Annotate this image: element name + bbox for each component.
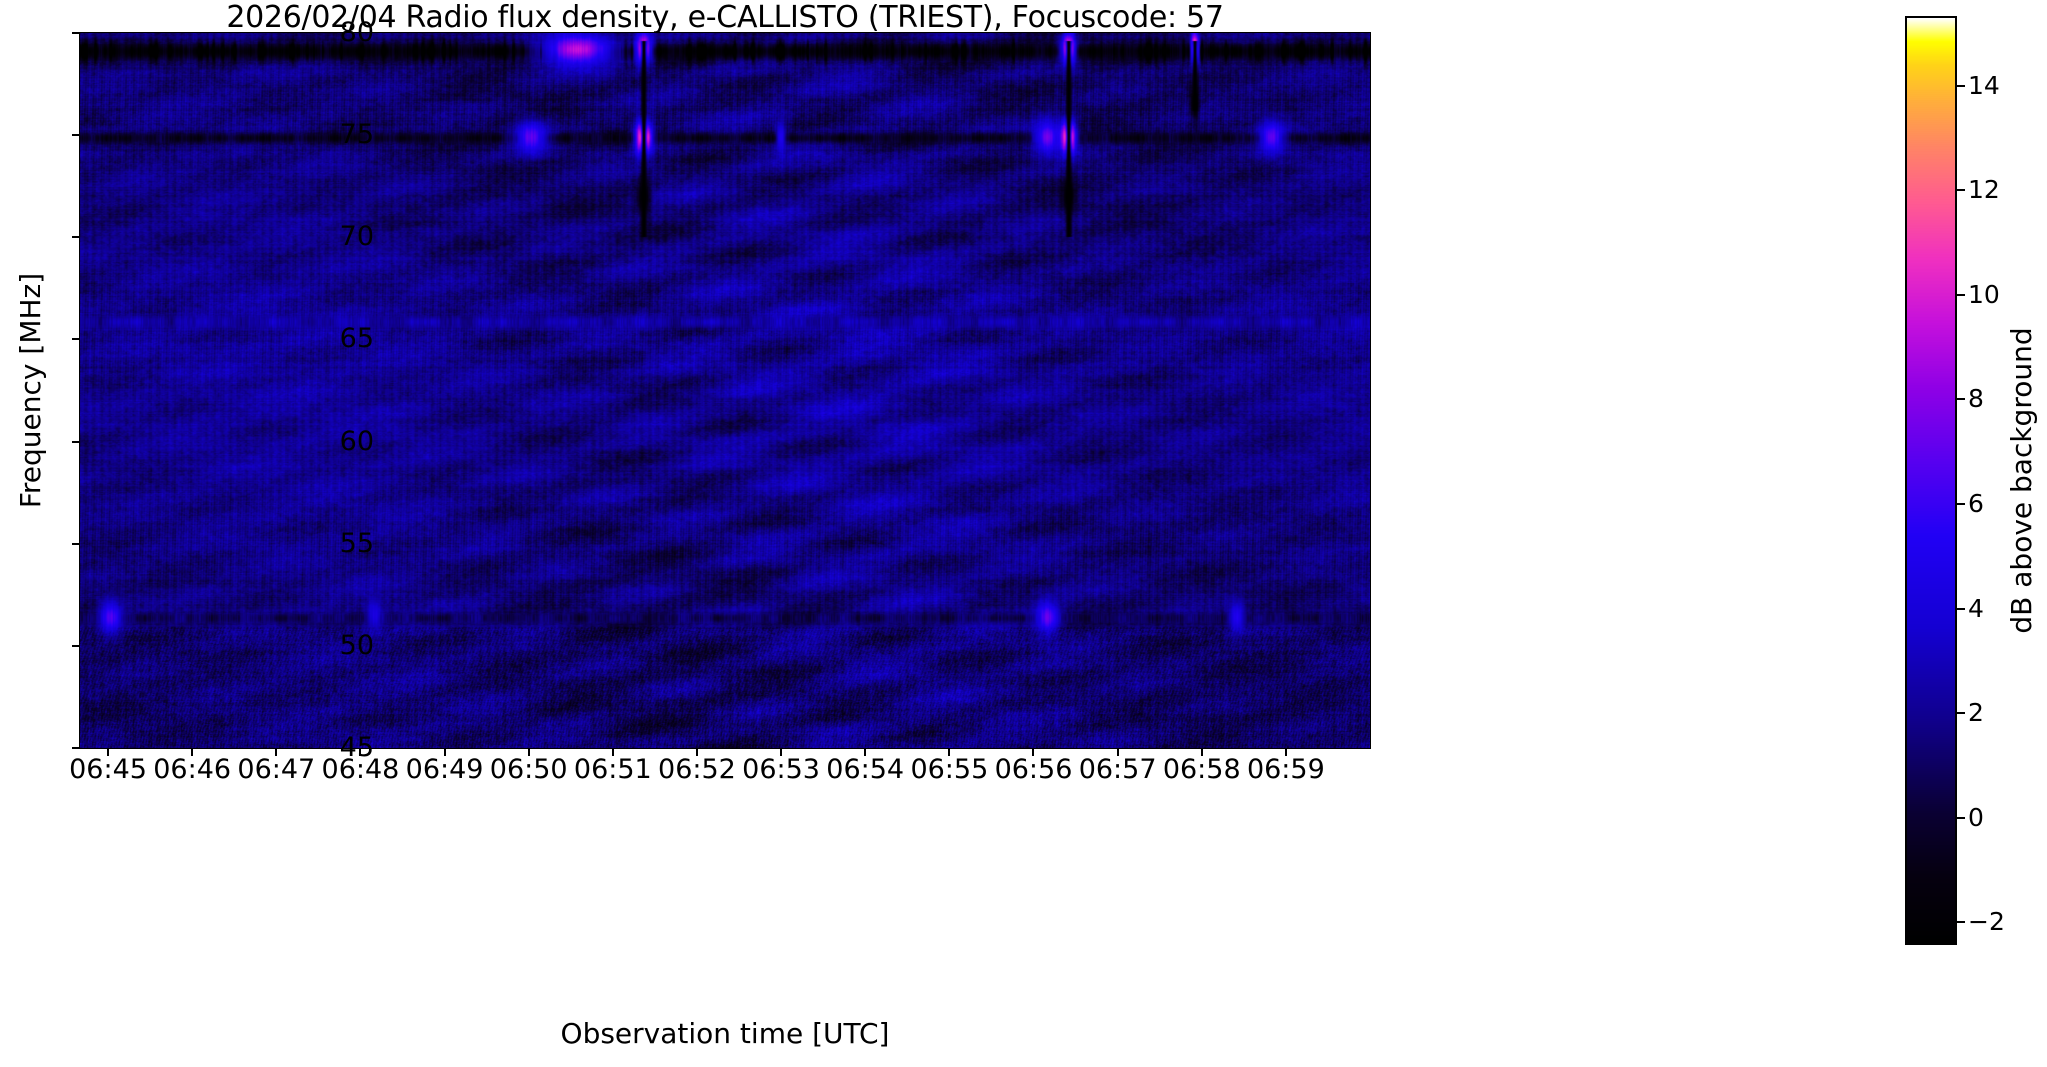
y-tick-mark <box>72 747 80 749</box>
x-tick-label: 06:55 <box>910 756 988 783</box>
y-tick-mark <box>72 645 80 647</box>
x-tick-label: 06:46 <box>153 756 231 783</box>
colorbar-tick-mark <box>1956 294 1965 296</box>
y-tick-label: 70 <box>340 223 374 250</box>
x-tick-mark <box>696 748 698 756</box>
x-tick-mark <box>444 748 446 756</box>
y-tick-label: 55 <box>340 530 374 557</box>
colorbar-tick-label: 10 <box>1968 282 2000 307</box>
colorbar-tick-label: 6 <box>1968 491 1984 516</box>
x-tick-mark <box>275 748 277 756</box>
x-tick-mark <box>1032 748 1034 756</box>
spectrogram-figure: 2026/02/04 Radio flux density, e-CALLIST… <box>0 0 2047 1067</box>
x-tick-label: 06:59 <box>1247 756 1325 783</box>
colorbar-tick-label: 4 <box>1968 596 1984 621</box>
y-tick-mark <box>72 338 80 340</box>
colorbar-tick-mark <box>1956 189 1965 191</box>
x-tick-label: 06:45 <box>69 756 147 783</box>
y-tick-mark <box>72 543 80 545</box>
colorbar-tick-label: 12 <box>1968 177 2000 202</box>
y-axis-label: Frequency [MHz] <box>14 33 48 748</box>
x-tick-label: 06:57 <box>1079 756 1157 783</box>
colorbar-tick-label: 14 <box>1968 73 2000 98</box>
x-tick-label: 06:53 <box>742 756 820 783</box>
colorbar-tick-mark <box>1956 85 1965 87</box>
x-tick-label: 06:58 <box>1163 756 1241 783</box>
x-tick-label: 06:49 <box>406 756 484 783</box>
spectrogram-plot-area <box>80 33 1370 748</box>
y-tick-label: 50 <box>340 632 374 659</box>
colorbar-tick-label: 8 <box>1968 386 1984 411</box>
colorbar-tick-label: 2 <box>1968 700 1984 725</box>
colorbar-tick-label: −2 <box>1968 909 2005 934</box>
x-tick-label: 06:52 <box>658 756 736 783</box>
x-tick-mark <box>107 748 109 756</box>
x-tick-label: 06:47 <box>237 756 315 783</box>
y-tick-mark <box>72 441 80 443</box>
x-tick-mark <box>1201 748 1203 756</box>
colorbar-tick-mark <box>1956 608 1965 610</box>
colorbar-tick-mark <box>1956 921 1965 923</box>
x-tick-label: 06:54 <box>826 756 904 783</box>
colorbar-label: dB above background <box>2004 18 2040 943</box>
chart-title: 2026/02/04 Radio flux density, e-CALLIST… <box>80 2 1370 34</box>
colorbar-tick-mark <box>1956 398 1965 400</box>
x-tick-label: 06:56 <box>995 756 1073 783</box>
x-tick-label: 06:50 <box>490 756 568 783</box>
y-tick-mark <box>72 236 80 238</box>
x-tick-mark <box>864 748 866 756</box>
colorbar-tick-mark <box>1956 712 1965 714</box>
colorbar-tick-mark <box>1956 817 1965 819</box>
y-tick-mark <box>72 134 80 136</box>
x-tick-mark <box>948 748 950 756</box>
x-tick-mark <box>780 748 782 756</box>
colorbar <box>1907 18 1955 943</box>
x-tick-mark <box>359 748 361 756</box>
colorbar-gradient <box>1907 18 1955 943</box>
spectrogram-canvas <box>80 33 1370 748</box>
y-tick-label: 60 <box>340 428 374 455</box>
y-tick-label: 75 <box>340 121 374 148</box>
y-tick-mark <box>72 32 80 34</box>
x-axis-label: Observation time [UTC] <box>80 1018 1370 1050</box>
y-tick-label: 65 <box>340 325 374 352</box>
colorbar-tick-mark <box>1956 503 1965 505</box>
x-tick-label: 06:48 <box>322 756 400 783</box>
x-tick-mark <box>1117 748 1119 756</box>
x-tick-mark <box>1285 748 1287 756</box>
x-tick-mark <box>191 748 193 756</box>
y-tick-label: 80 <box>340 19 374 46</box>
x-tick-label: 06:51 <box>574 756 652 783</box>
colorbar-tick-label: 0 <box>1968 805 1984 830</box>
x-tick-mark <box>612 748 614 756</box>
x-tick-mark <box>528 748 530 756</box>
